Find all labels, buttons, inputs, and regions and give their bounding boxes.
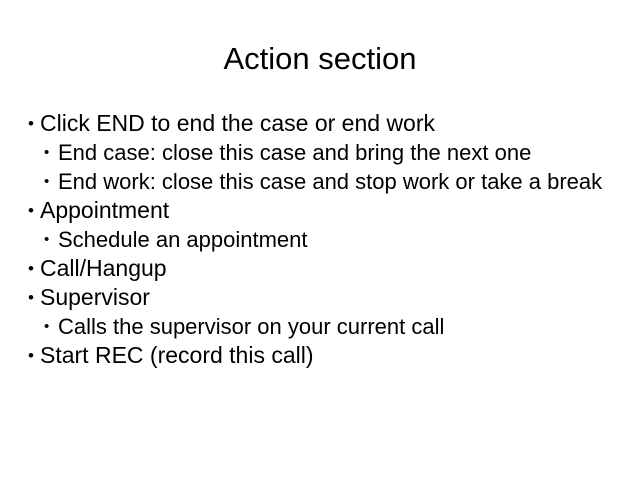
bullet-text: End work: close this case and stop work … bbox=[58, 167, 612, 196]
bullet-item: • End work: close this case and stop wor… bbox=[28, 167, 612, 196]
presentation-slide: Action section • Click END to end the ca… bbox=[0, 0, 640, 480]
bullet-dot-icon: • bbox=[44, 312, 49, 341]
bullet-text: Supervisor bbox=[40, 283, 612, 312]
bullet-item: • Appointment bbox=[28, 196, 612, 225]
bullet-dot-icon: • bbox=[44, 138, 49, 167]
bullet-dot-icon: • bbox=[28, 109, 34, 138]
bullet-text: Calls the supervisor on your current cal… bbox=[58, 312, 612, 341]
bullet-item: • Schedule an appointment bbox=[28, 225, 612, 254]
bullet-item: • Click END to end the case or end work bbox=[28, 109, 612, 138]
slide-title: Action section bbox=[0, 40, 640, 78]
bullet-item: • Start REC (record this call) bbox=[28, 341, 612, 370]
bullet-text: Start REC (record this call) bbox=[40, 341, 612, 370]
bullet-text: Schedule an appointment bbox=[58, 225, 612, 254]
bullet-dot-icon: • bbox=[44, 167, 49, 196]
bullet-item: • End case: close this case and bring th… bbox=[28, 138, 612, 167]
bullet-text: Click END to end the case or end work bbox=[40, 109, 612, 138]
bullet-item: • Supervisor bbox=[28, 283, 612, 312]
bullet-item: • Call/Hangup bbox=[28, 254, 612, 283]
bullet-text: Call/Hangup bbox=[40, 254, 612, 283]
bullet-dot-icon: • bbox=[28, 196, 34, 225]
bullet-item: • Calls the supervisor on your current c… bbox=[28, 312, 612, 341]
slide-body-content: • Click END to end the case or end work … bbox=[28, 109, 612, 370]
bullet-dot-icon: • bbox=[44, 225, 49, 254]
bullet-dot-icon: • bbox=[28, 283, 34, 312]
bullet-text: End case: close this case and bring the … bbox=[58, 138, 612, 167]
bullet-dot-icon: • bbox=[28, 254, 34, 283]
bullet-dot-icon: • bbox=[28, 341, 34, 370]
bullet-text: Appointment bbox=[40, 196, 612, 225]
